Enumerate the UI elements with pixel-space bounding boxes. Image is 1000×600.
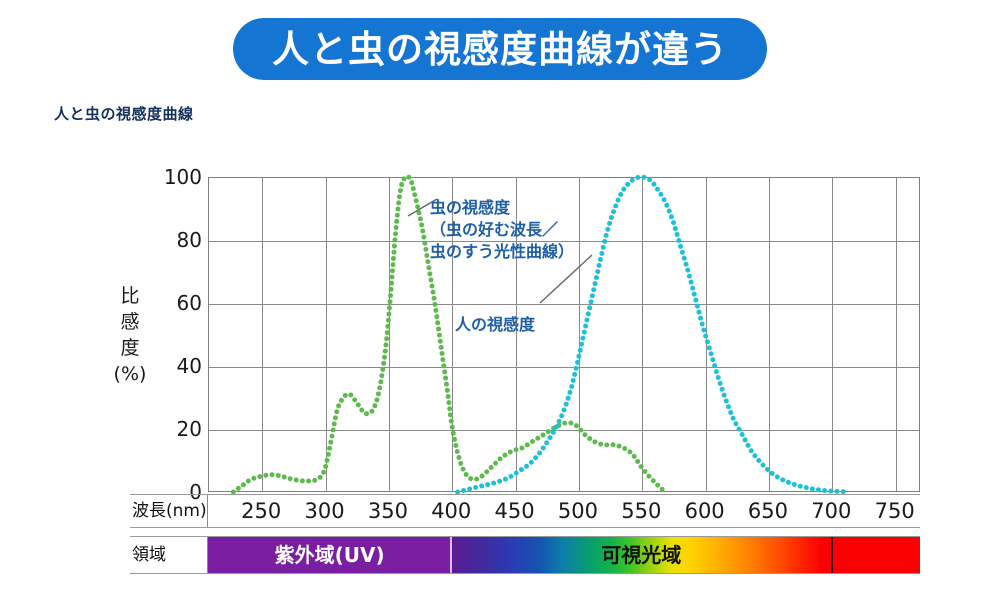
y-tick-80: 80 (156, 228, 202, 252)
luminosity-curve-chart: 020406080100 比 感 度 (%) 虫の視感度 （虫の好む波長／ 虫の… (0, 0, 1000, 600)
y-axis-title-char-4: (%) (104, 361, 156, 387)
uv-visible-divider (450, 537, 452, 573)
annotation-human: 人の視感度 (455, 314, 535, 336)
gridline-v-350 (389, 178, 390, 491)
x-tick-450: 450 (495, 495, 535, 527)
gridline-h-60 (209, 304, 919, 305)
x-tick-350: 350 (368, 495, 408, 527)
x-tick-400: 400 (431, 495, 471, 527)
y-tick-60: 60 (156, 291, 202, 315)
x-tick-650: 650 (748, 495, 788, 527)
gridline-v-700 (832, 178, 833, 491)
gridline-v-750 (896, 178, 897, 491)
y-axis-title-char-1: 比 (104, 283, 156, 309)
red-edge-divider (831, 537, 833, 573)
y-axis-title-char-3: 度 (104, 335, 156, 361)
region-label-visible: 可視光域 (601, 537, 681, 573)
gridline-v-500 (579, 178, 580, 491)
gridline-v-650 (769, 178, 770, 491)
gridline-v-600 (706, 178, 707, 491)
spectrum-bar: 紫外域(UV) 可視光域 (208, 537, 920, 573)
y-tick-20: 20 (156, 417, 202, 441)
x-tick-700: 700 (811, 495, 851, 527)
annotation-insect-line1: 虫の視感度 (430, 197, 574, 219)
region-label-uv: 紫外域(UV) (275, 537, 385, 573)
gridline-h-40 (209, 367, 919, 368)
gridline-v-250 (262, 178, 263, 491)
annotation-insect-line3: 虫のすう光性曲線） (430, 241, 574, 263)
x-tick-550: 550 (621, 495, 661, 527)
x-axis-row-label: 波長(nm) (130, 495, 208, 527)
y-tick-40: 40 (156, 354, 202, 378)
gridline-v-550 (642, 178, 643, 491)
region-row-label: 領域 (130, 537, 208, 573)
y-axis-ticks: 020406080100 (152, 177, 202, 492)
spectrum-visible-band (451, 537, 920, 573)
x-tick-500: 500 (558, 495, 598, 527)
annotation-insect: 虫の視感度 （虫の好む波長／ 虫のすう光性曲線） (430, 197, 574, 263)
annotation-human-line1: 人の視感度 (455, 314, 535, 336)
gridline-v-300 (326, 178, 327, 491)
x-tick-600: 600 (685, 495, 725, 527)
y-axis-title: 比 感 度 (%) (104, 283, 156, 387)
y-axis-title-char-2: 感 (104, 309, 156, 335)
slide-root: 人と虫の視感度曲線が違う 人と虫の視感度曲線 020406080100 比 感 … (0, 0, 1000, 600)
x-tick-250: 250 (241, 495, 281, 527)
region-row: 領域 紫外域(UV) 可視光域 (130, 536, 920, 574)
y-tick-100: 100 (156, 165, 202, 189)
x-axis-row: 波長(nm) 250300350400450500550600650700750 (130, 494, 920, 528)
annotation-insect-line2: （虫の好む波長／ (430, 219, 574, 241)
x-tick-750: 750 (875, 495, 915, 527)
gridline-h-20 (209, 430, 919, 431)
x-tick-300: 300 (305, 495, 345, 527)
